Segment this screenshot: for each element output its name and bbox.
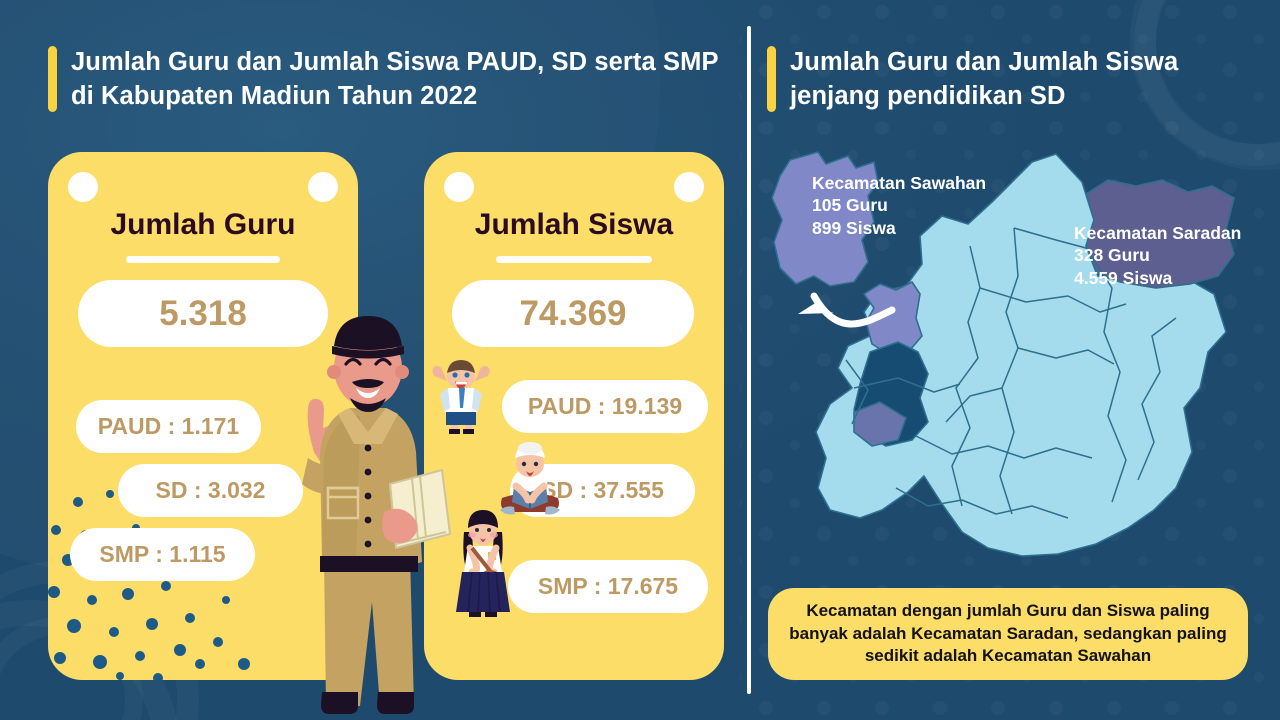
student-paud-illustration	[428, 358, 494, 434]
student-sd-illustration	[494, 440, 566, 516]
guru-total-value: 5.318	[159, 294, 247, 334]
siswa-total-pill: 74.369	[452, 280, 694, 347]
student-smp-illustration	[452, 506, 514, 620]
left-panel-title-text: Jumlah Guru dan Jumlah Siswa PAUD, SD se…	[71, 46, 728, 113]
sawahan-district-name: Kecamatan Sawahan	[812, 172, 986, 194]
guru-paud-value: PAUD : 1.171	[98, 413, 239, 440]
card-hole-right	[674, 172, 704, 202]
card-hole-right	[308, 172, 338, 202]
sawahan-students: 899 Siswa	[812, 217, 986, 239]
card-title-guru: Jumlah Guru	[48, 208, 358, 242]
right-panel-title-text: Jumlah Guru dan Jumlah Siswa jenjang pen…	[790, 46, 1237, 113]
guru-smp-pill: SMP : 1.115	[70, 528, 255, 581]
saradan-district-name: Kecamatan Saradan	[1074, 222, 1241, 244]
guru-smp-value: SMP : 1.115	[99, 541, 225, 568]
siswa-smp-pill: SMP : 17.675	[508, 560, 708, 613]
right-panel-title: Jumlah Guru dan Jumlah Siswa jenjang pen…	[767, 46, 1237, 113]
map-annotation-sawahan: Kecamatan Sawahan 105 Guru 899 Siswa	[812, 172, 986, 239]
saradan-teachers: 328 Guru	[1074, 244, 1241, 266]
map-summary-callout: Kecamatan dengan jumlah Guru dan Siswa p…	[768, 588, 1248, 680]
map-summary-text: Kecamatan dengan jumlah Guru dan Siswa p…	[784, 600, 1232, 668]
siswa-smp-value: SMP : 17.675	[538, 573, 678, 600]
siswa-paud-pill: PAUD : 19.139	[502, 380, 708, 433]
card-hole-left	[444, 172, 474, 202]
panel-divider	[747, 26, 751, 694]
card-underline	[496, 256, 652, 263]
title-accent-bar	[48, 46, 57, 112]
map-annotation-saradan: Kecamatan Saradan 328 Guru 4.559 Siswa	[1074, 222, 1241, 289]
card-title-siswa: Jumlah Siswa	[424, 208, 724, 242]
title-accent-bar	[767, 46, 776, 112]
sawahan-teachers: 105 Guru	[812, 194, 986, 216]
saradan-students: 4.559 Siswa	[1074, 267, 1241, 289]
guru-paud-pill: PAUD : 1.171	[76, 400, 261, 453]
siswa-paud-value: PAUD : 19.139	[528, 393, 682, 420]
card-underline	[126, 256, 280, 263]
left-panel-title: Jumlah Guru dan Jumlah Siswa PAUD, SD se…	[48, 46, 728, 113]
guru-sd-value: SD : 3.032	[156, 477, 266, 504]
siswa-total-value: 74.369	[519, 294, 626, 334]
card-hole-left	[68, 172, 98, 202]
